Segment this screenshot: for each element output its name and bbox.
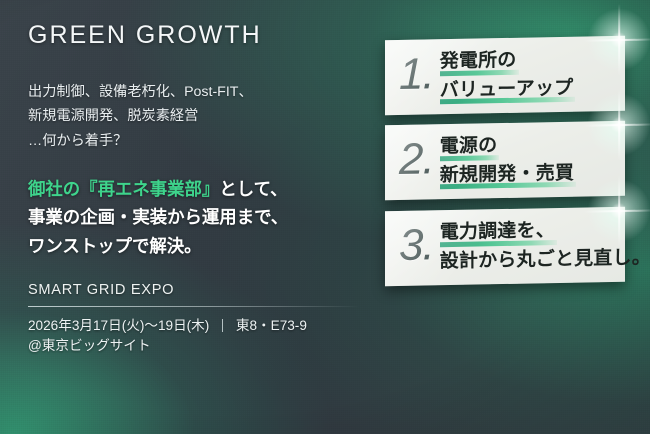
- vertical-separator: [222, 319, 223, 332]
- lead-line-1: 出力制御、設備老朽化、Post-FIT、: [28, 80, 380, 104]
- lead-paragraph: 出力制御、設備老朽化、Post-FIT、 新規電源開発、脱炭素経営 …何から着手…: [28, 80, 380, 153]
- card-3-line-1: 電力調達を、: [440, 219, 555, 247]
- service-card-3[interactable]: 3. 電力調達を、 設計から丸ごと見直し。: [385, 207, 625, 287]
- card-1-number: 1.: [393, 48, 440, 95]
- service-card-2[interactable]: 2. 電源の 新規開発・売買: [385, 121, 625, 201]
- event-date-row: 2026年3月17日(火)〜19日(木) 東8・E73-9: [28, 316, 380, 336]
- green-growth-ad-banner: GREEN GROWTH 出力制御、設備老朽化、Post-FIT、 新規電源開発…: [0, 0, 650, 434]
- card-3-line-2: 設計から丸ごと見直し。: [440, 246, 650, 276]
- card-3-text: 電力調達を、 設計から丸ごと見直し。: [440, 215, 650, 275]
- card-3-number: 3.: [393, 219, 440, 266]
- card-1-line-1: 発電所の: [440, 49, 517, 76]
- event-dates: 2026年3月17日(火)〜19日(木): [28, 318, 209, 333]
- expo-name: SMART GRID EXPO: [28, 282, 380, 298]
- event-venue: @東京ビッグサイト: [28, 336, 380, 356]
- service-card-1[interactable]: 1. 発電所の バリューアップ: [385, 36, 625, 116]
- pitch-line-2: 事業の企画・実装から運用まで、: [28, 203, 380, 231]
- card-2-number: 2.: [393, 134, 440, 181]
- lead-line-2: 新規電源開発、脱炭素経営: [28, 104, 380, 128]
- pitch-line-3: ワンストップで解決。: [28, 232, 380, 260]
- page-title: GREEN GROWTH: [28, 20, 380, 50]
- card-1-line-2: バリューアップ: [440, 76, 574, 104]
- event-booth: 東8・E73-9: [236, 318, 307, 333]
- pitch-line-1: 御社の『再エネ事業部』として、: [28, 175, 380, 203]
- lead-line-3: …何から着手？: [28, 129, 380, 153]
- pitch-paragraph: 御社の『再エネ事業部』として、 事業の企画・実装から運用まで、 ワンストップで解…: [28, 175, 380, 260]
- card-2-line-1: 電源の: [440, 135, 498, 162]
- card-2-line-2: 新規開発・売買: [440, 162, 574, 190]
- event-details: 2026年3月17日(火)〜19日(木) 東8・E73-9 @東京ビッグサイト: [28, 316, 380, 357]
- pitch-line-1-tail: として、: [219, 179, 287, 199]
- card-1-text: 発電所の バリューアップ: [440, 45, 615, 105]
- card-2-text: 電源の 新規開発・売買: [440, 130, 615, 190]
- service-cards-list: 1. 発電所の バリューアップ 2. 電源の 新規開発・売買 3. 電力調達を、…: [385, 38, 625, 294]
- divider: [28, 306, 360, 307]
- left-content-column: GREEN GROWTH 出力制御、設備老朽化、Post-FIT、 新規電源開発…: [28, 20, 380, 357]
- pitch-accent-text: 御社の『再エネ事業部』: [28, 179, 219, 199]
